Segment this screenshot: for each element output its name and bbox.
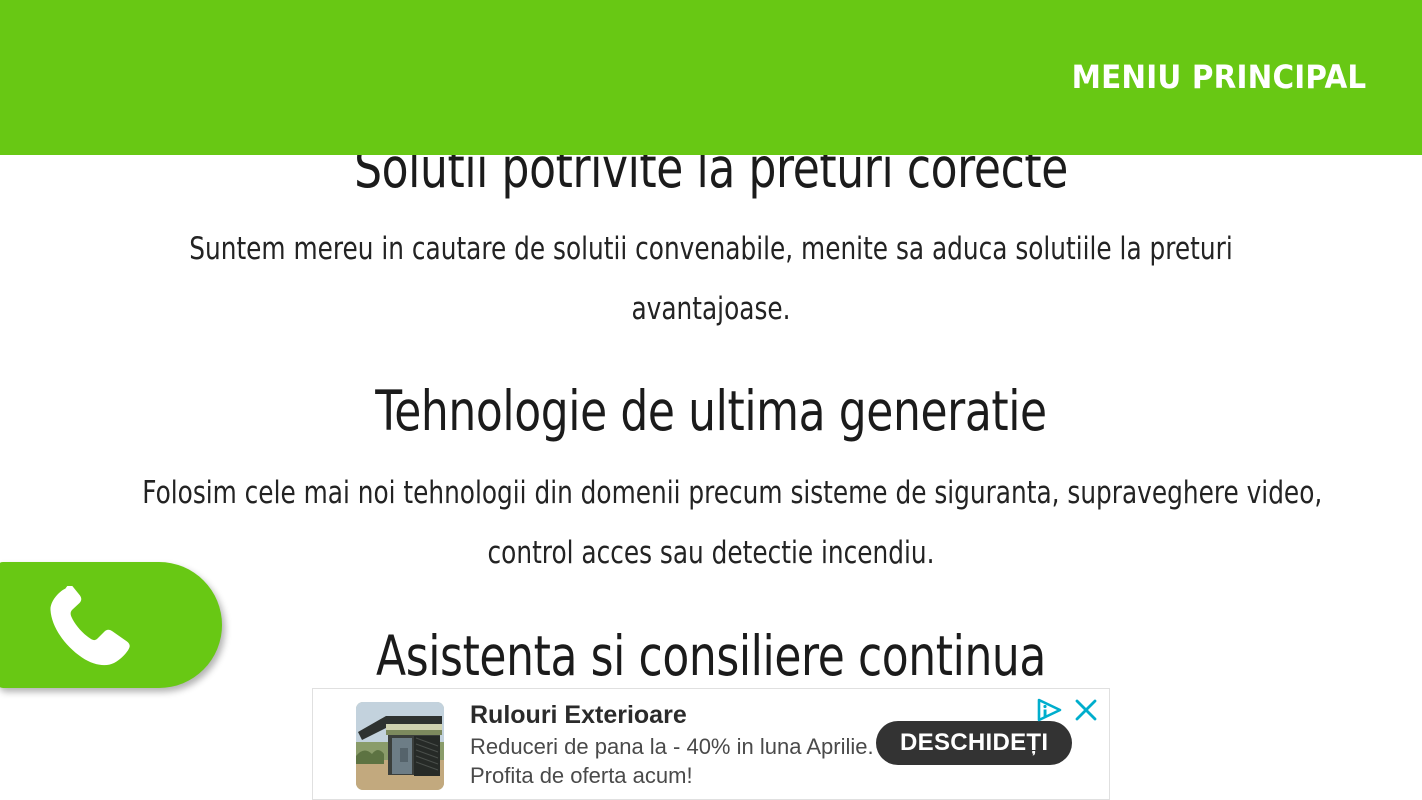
section-heading-asistenta: Asistenta si consiliere continua xyxy=(142,628,1280,684)
body-line: avantajoase. xyxy=(142,279,1280,339)
ad-banner[interactable]: Rulouri Exterioare Reduceri de pana la -… xyxy=(312,688,1110,800)
body-line: control acces sau detectie incendiu. xyxy=(142,523,1280,583)
site-header: MENIU PRINCIPAL xyxy=(0,0,1422,155)
body-line: Folosim cele mai noi tehnologii din dome… xyxy=(142,463,1280,523)
section-body-solutii: Suntem mereu in cautare de solutii conve… xyxy=(0,219,1422,339)
section-tehnologie: Tehnologie de ultima generatie xyxy=(0,383,1422,439)
section-heading-tehnologie: Tehnologie de ultima generatie xyxy=(142,383,1280,439)
close-icon[interactable] xyxy=(1071,695,1101,725)
main-menu-button[interactable]: MENIU PRINCIPAL xyxy=(1071,58,1366,96)
ad-description-line-2: Profita de oferta acum! xyxy=(470,761,1030,790)
section-body-tehnologie: Folosim cele mai noi tehnologii din dome… xyxy=(0,463,1422,583)
call-button[interactable] xyxy=(0,562,222,688)
ad-thumbnail-image[interactable] xyxy=(356,702,444,790)
adchoices-icon[interactable] xyxy=(1036,697,1064,728)
body-line: Suntem mereu in cautare de solutii conve… xyxy=(142,219,1280,279)
